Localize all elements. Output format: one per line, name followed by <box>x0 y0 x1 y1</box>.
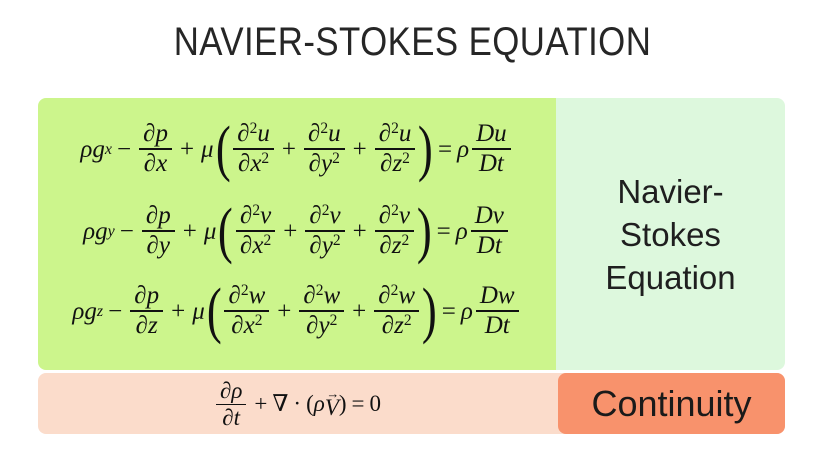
gravity-symbol: g <box>95 219 108 244</box>
plus-operator: + <box>348 219 372 244</box>
coordinate-symbol: x <box>244 312 255 339</box>
laplacian-term-x: ∂2u ∂x2 <box>233 121 274 177</box>
fraction-numerator: ∂2u <box>233 121 274 148</box>
gravity-symbol: g <box>84 299 97 324</box>
pressure-gradient-fraction: ∂p ∂z <box>130 283 163 339</box>
vector-arrow-icon: → <box>326 391 339 397</box>
fraction-denominator: Dt <box>473 232 506 259</box>
equation-row-x-momentum: ρgx − ∂p ∂x + μ ( ∂2u ∂x2 + ∂2u ∂y2 + <box>38 110 556 190</box>
material-derivative-symbol: D <box>477 232 495 259</box>
page-title: NAVIER-STOKES EQUATION <box>54 18 772 66</box>
fraction-numerator: ∂2u <box>375 121 416 148</box>
plus-operator: + <box>278 219 302 244</box>
coordinate-symbol: z <box>148 312 158 339</box>
plus-operator: + <box>348 137 372 162</box>
coordinate-symbol: y <box>159 232 170 259</box>
fraction-denominator: ∂y <box>143 232 174 259</box>
velocity-symbol: v <box>493 202 504 229</box>
navier-stokes-label-line-2: Stokes <box>556 213 785 256</box>
order-exponent: 2 <box>330 312 338 329</box>
equation-x-momentum: ρgx − ∂p ∂x + μ ( ∂2u ∂x2 + ∂2u ∂y2 + <box>80 122 513 178</box>
order-exponent: 2 <box>404 312 412 329</box>
rho-symbol: ρ <box>314 392 325 415</box>
fraction-denominator: Dt <box>475 150 508 177</box>
paren-close: ) <box>422 292 437 330</box>
partial-symbol: ∂ <box>134 282 146 309</box>
partial-symbol: ∂ <box>143 120 155 147</box>
minus-operator: − <box>112 137 136 162</box>
equation-z-momentum: ρgz − ∂p ∂z + μ ( ∂2w ∂x2 + ∂2w ∂y2 + <box>72 284 521 340</box>
fraction-denominator: ∂y2 <box>305 150 344 177</box>
gravity-subscript: x <box>105 142 112 158</box>
equals-operator: = <box>432 219 456 244</box>
fraction-numerator: Du <box>472 121 511 148</box>
velocity-symbol: u <box>328 120 341 147</box>
coordinate-symbol: y <box>322 232 333 259</box>
coordinate-symbol: y <box>321 150 332 177</box>
equation-row-z-momentum: ρgz − ∂p ∂z + μ ( ∂2w ∂x2 + ∂2w ∂y2 + <box>38 272 556 352</box>
material-derivative-symbol: D <box>485 312 503 339</box>
fraction-numerator: ∂2v <box>305 203 344 230</box>
rho-symbol: ρ <box>461 299 473 324</box>
continuity-label: Continuity <box>591 384 751 424</box>
equation-continuity: ∂ρ ∂t + ∇ · ( ρ → V ) = 0 <box>213 378 381 430</box>
order-exponent: 2 <box>264 232 272 249</box>
partial-symbol: ∂ <box>380 150 392 177</box>
pressure-symbol: p <box>155 120 168 147</box>
fraction-numerator: ∂2w <box>299 283 344 310</box>
continuity-label-box: Continuity <box>558 373 785 434</box>
laplacian-term-y: ∂2u ∂y2 <box>304 121 345 177</box>
fraction-numerator: ∂p <box>130 283 163 310</box>
fraction-denominator: ∂y2 <box>305 232 344 259</box>
laplacian-term-z: ∂2v ∂z2 <box>375 203 414 259</box>
rho-symbol: ρ <box>231 378 242 403</box>
velocity-symbol: u <box>399 120 412 147</box>
material-derivative-symbol: D <box>475 202 493 229</box>
mu-symbol: μ <box>199 137 216 162</box>
partial-symbol: ∂ <box>220 378 231 403</box>
partial-symbol: ∂ <box>306 312 318 339</box>
material-derivative-symbol: D <box>480 282 498 309</box>
fraction-denominator: ∂z2 <box>375 232 413 259</box>
order-exponent: 2 <box>320 120 328 137</box>
velocity-symbol: u <box>494 120 507 147</box>
velocity-symbol: w <box>323 282 340 309</box>
partial-symbol: ∂ <box>308 120 320 147</box>
equals-operator: = <box>347 392 370 415</box>
paren-close: ) <box>339 392 347 415</box>
nabla-icon: ∇ <box>272 392 288 415</box>
coordinate-symbol: x <box>156 150 167 177</box>
fraction-denominator: ∂x2 <box>236 232 275 259</box>
velocity-symbol: u <box>257 120 270 147</box>
fraction-denominator: ∂x2 <box>234 150 273 177</box>
material-derivative-fraction: Du Dt <box>472 121 511 177</box>
partial-symbol: ∂ <box>144 150 156 177</box>
material-derivative-symbol: D <box>476 120 494 147</box>
partial-symbol: ∂ <box>240 232 252 259</box>
minus-operator: − <box>103 299 127 324</box>
partial-symbol: ∂ <box>309 232 321 259</box>
velocity-symbol: v <box>329 202 340 229</box>
fraction-denominator: ∂t <box>218 405 244 430</box>
order-exponent: 2 <box>241 282 249 299</box>
order-exponent: 2 <box>391 202 399 219</box>
velocity-symbol: w <box>498 282 515 309</box>
partial-symbol: ∂ <box>238 150 250 177</box>
partial-symbol: ∂ <box>379 202 391 229</box>
plus-operator: + <box>249 392 272 415</box>
partial-symbol: ∂ <box>379 232 391 259</box>
equals-operator: = <box>433 137 457 162</box>
material-derivative-symbol: D <box>479 150 497 177</box>
partial-symbol: ∂ <box>147 232 159 259</box>
partial-symbol: ∂ <box>309 150 321 177</box>
laplacian-term-x: ∂2v ∂x2 <box>236 203 275 259</box>
paren-open: ( <box>306 392 314 415</box>
partial-symbol: ∂ <box>237 120 249 147</box>
plus-operator: + <box>272 299 296 324</box>
partial-symbol: ∂ <box>379 120 391 147</box>
velocity-symbol: w <box>398 282 415 309</box>
plus-operator: + <box>178 219 202 244</box>
fraction-numerator: ∂p <box>142 203 175 230</box>
plus-operator: + <box>166 299 190 324</box>
laplacian-term-z: ∂2u ∂z2 <box>375 121 416 177</box>
partial-symbol: ∂ <box>382 312 394 339</box>
pressure-symbol: p <box>158 202 171 229</box>
plus-operator: + <box>347 299 371 324</box>
zero-value: 0 <box>370 392 382 415</box>
velocity-symbol: w <box>249 282 266 309</box>
time-symbol: t <box>234 405 240 430</box>
slide-canvas: NAVIER-STOKES EQUATION ρgx − ∂p ∂x + μ (… <box>0 0 825 464</box>
partial-symbol: ∂ <box>146 202 158 229</box>
material-derivative-fraction: Dw Dt <box>476 283 519 339</box>
rho-symbol: ρ <box>83 219 95 244</box>
navier-stokes-label-line-1: Navier- <box>556 170 785 213</box>
partial-symbol: ∂ <box>378 282 390 309</box>
density-time-derivative-fraction: ∂ρ ∂t <box>216 379 246 431</box>
fraction-numerator: ∂2w <box>224 283 269 310</box>
order-exponent: 2 <box>402 150 410 167</box>
plus-operator: + <box>277 137 301 162</box>
equation-y-momentum: ρgy − ∂p ∂y + μ ( ∂2v ∂x2 + ∂2v ∂y2 + <box>83 204 511 260</box>
rho-symbol: ρ <box>80 137 92 162</box>
rho-symbol: ρ <box>457 137 469 162</box>
equation-row-continuity: ∂ρ ∂t + ∇ · ( ρ → V ) = 0 <box>38 373 556 434</box>
partial-symbol: ∂ <box>309 202 321 229</box>
rho-symbol: ρ <box>72 299 84 324</box>
coordinate-symbol: x <box>252 232 263 259</box>
paren-close: ) <box>418 130 433 168</box>
equals-operator: = <box>437 299 461 324</box>
time-symbol: t <box>497 150 504 177</box>
order-exponent: 2 <box>255 312 263 329</box>
order-exponent: 2 <box>333 232 341 249</box>
fraction-denominator: ∂x2 <box>227 312 266 339</box>
velocity-symbol: v <box>260 202 271 229</box>
paren-close: ) <box>417 212 432 250</box>
fraction-numerator: ∂2w <box>374 283 419 310</box>
gravity-symbol: g <box>92 137 105 162</box>
time-symbol: t <box>503 312 510 339</box>
fraction-denominator: ∂z2 <box>376 150 414 177</box>
pressure-gradient-fraction: ∂p ∂x <box>139 121 172 177</box>
paren-open: ( <box>207 292 222 330</box>
partial-symbol: ∂ <box>222 405 233 430</box>
coordinate-symbol: z <box>394 312 404 339</box>
partial-symbol: ∂ <box>240 202 252 229</box>
rho-symbol: ρ <box>456 219 468 244</box>
pressure-gradient-fraction: ∂p ∂y <box>142 203 175 259</box>
mu-symbol: μ <box>190 299 207 324</box>
mu-symbol: μ <box>202 219 219 244</box>
laplacian-term-z: ∂2w ∂z2 <box>374 283 419 339</box>
partial-symbol: ∂ <box>228 282 240 309</box>
navier-stokes-label-panel: Navier- Stokes Equation <box>556 98 785 370</box>
velocity-symbol: v <box>399 202 410 229</box>
paren-open: ( <box>216 130 231 168</box>
minus-operator: − <box>115 219 139 244</box>
fraction-numerator: ∂2v <box>375 203 414 230</box>
pressure-symbol: p <box>147 282 160 309</box>
equation-row-y-momentum: ρgy − ∂p ∂y + μ ( ∂2v ∂x2 + ∂2v ∂y2 + <box>38 192 556 272</box>
laplacian-term-y: ∂2v ∂y2 <box>305 203 344 259</box>
time-symbol: t <box>495 232 502 259</box>
order-exponent: 2 <box>401 232 409 249</box>
fraction-denominator: Dt <box>481 312 514 339</box>
fraction-numerator: Dw <box>476 283 519 310</box>
fraction-numerator: ∂2u <box>304 121 345 148</box>
order-exponent: 2 <box>391 120 399 137</box>
fraction-numerator: ∂2v <box>236 203 275 230</box>
partial-symbol: ∂ <box>231 312 243 339</box>
navier-stokes-label: Navier- Stokes Equation <box>556 170 785 299</box>
laplacian-term-x: ∂2w ∂x2 <box>224 283 269 339</box>
dot-product-operator: · <box>288 392 306 415</box>
paren-open: ( <box>218 212 233 250</box>
velocity-vector-symbol: → V <box>325 390 339 419</box>
fraction-denominator: ∂x <box>140 150 171 177</box>
order-exponent: 2 <box>332 150 340 167</box>
coordinate-symbol: y <box>319 312 330 339</box>
fraction-denominator: ∂y2 <box>302 312 341 339</box>
order-exponent: 2 <box>261 150 269 167</box>
material-derivative-fraction: Dv Dt <box>471 203 508 259</box>
gravity-subscript: y <box>108 224 115 240</box>
coordinate-symbol: x <box>250 150 261 177</box>
laplacian-term-y: ∂2w ∂y2 <box>299 283 344 339</box>
fraction-numerator: ∂ρ <box>216 379 246 404</box>
coordinate-symbol: z <box>392 150 402 177</box>
fraction-numerator: ∂p <box>139 121 172 148</box>
order-exponent: 2 <box>252 202 260 219</box>
plus-operator: + <box>175 137 199 162</box>
fraction-denominator: ∂z <box>132 312 162 339</box>
partial-symbol: ∂ <box>303 282 315 309</box>
partial-symbol: ∂ <box>136 312 148 339</box>
navier-stokes-label-line-3: Equation <box>556 256 785 299</box>
fraction-numerator: Dv <box>471 203 508 230</box>
fraction-denominator: ∂z2 <box>378 312 416 339</box>
